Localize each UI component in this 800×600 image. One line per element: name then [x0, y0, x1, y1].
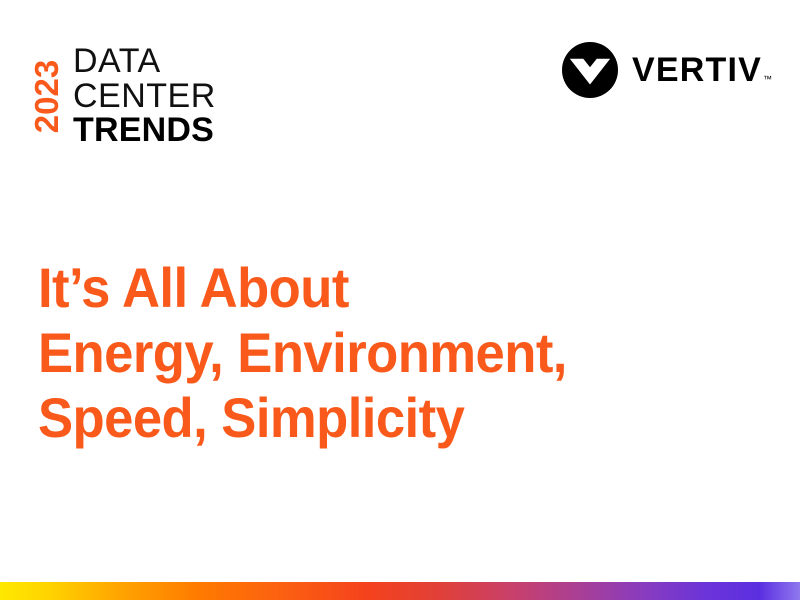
headline-block: It’s All About Energy, Environment, Spee… [38, 256, 738, 451]
slide-canvas: 2023 DATA CENTER TRENDS VERTIV ™ It’s Al… [0, 0, 800, 600]
report-title-line-trends: TRENDS [73, 113, 216, 148]
brand-logo: VERTIV ™ [562, 42, 772, 98]
spectrum-gradient-band [0, 582, 800, 600]
report-title-words: DATA CENTER TRENDS [73, 44, 216, 148]
report-year-rail: 2023 [30, 44, 64, 148]
headline-line-1: It’s All About [38, 256, 696, 321]
report-title-line-data: DATA [73, 44, 216, 79]
headline-line-3: Speed, Simplicity [38, 386, 696, 451]
trademark-symbol: ™ [763, 75, 772, 84]
report-title-lockup: 2023 DATA CENTER TRENDS [30, 44, 216, 148]
brand-wordmark: VERTIV ™ [632, 53, 772, 87]
vertiv-chevron-mark-icon [562, 42, 618, 98]
brand-name: VERTIV [632, 53, 762, 87]
report-year: 2023 [31, 59, 64, 132]
headline-line-2: Energy, Environment, [38, 321, 696, 386]
report-title-line-center: CENTER [73, 79, 216, 114]
